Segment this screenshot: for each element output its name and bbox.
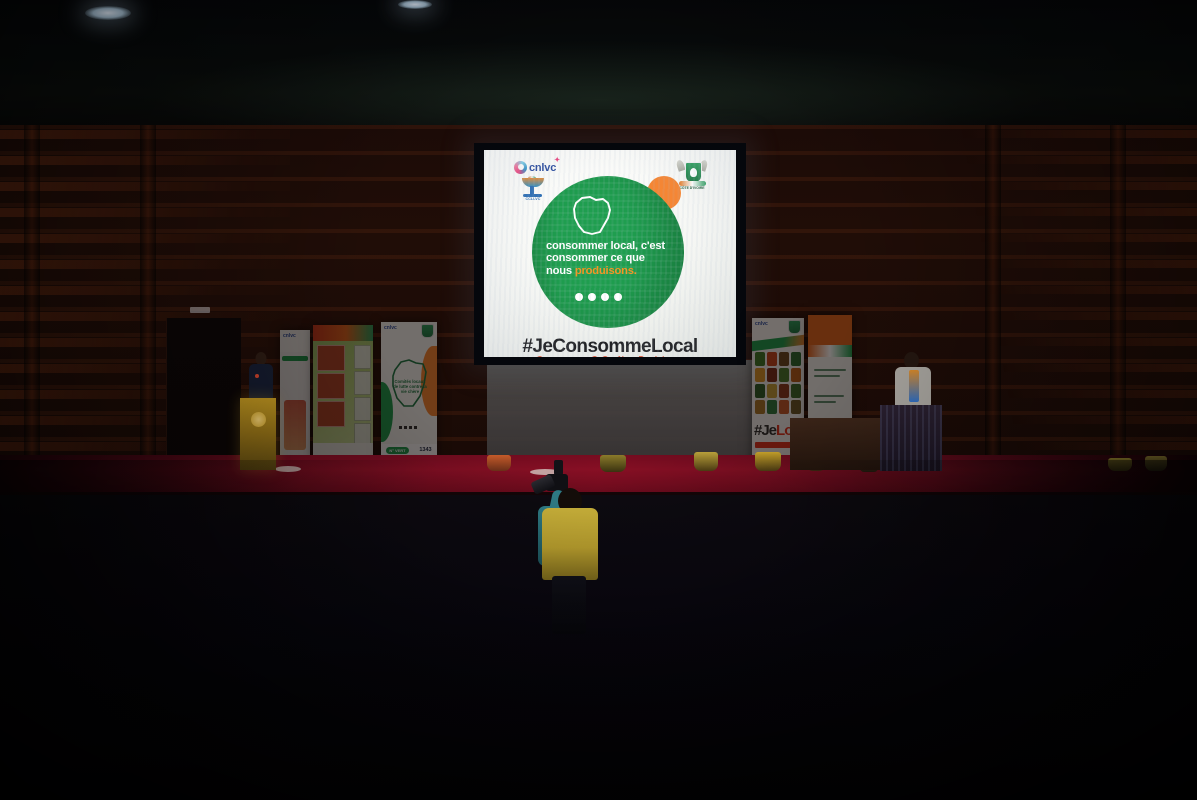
speaker-left-badge — [255, 374, 259, 378]
produce-plate — [275, 466, 301, 472]
produce-basket — [755, 452, 781, 471]
wall-pillar — [24, 125, 40, 480]
wall-pillar — [1110, 125, 1126, 480]
screen-vignette — [484, 150, 736, 357]
exit-sign-icon — [190, 307, 210, 313]
side-door — [166, 318, 241, 468]
podium-right-drape — [880, 405, 942, 471]
photographer-jacket — [542, 508, 598, 580]
banner-orange-header — [808, 315, 852, 435]
projection-screen: cnlvc ✦ CCLLVC CÔTE D'IVOIRE — [484, 150, 736, 357]
speaker-right-sash — [909, 370, 919, 402]
banner-comites-locaux: cnlvc Comités locaux de lutte contre la … — [381, 322, 437, 464]
wall-pillar — [985, 125, 1001, 480]
banner-cnlvc-partial: cnlvc — [280, 330, 310, 465]
ceiling-downlight-icon — [398, 0, 432, 9]
banner5-shadow — [808, 315, 852, 435]
banner3-shadow — [381, 322, 437, 464]
photographer — [540, 470, 600, 635]
stage-backdrop-panel — [487, 360, 755, 460]
speaker-right — [895, 352, 931, 410]
podium-seal-icon — [251, 412, 266, 427]
speaker-left — [249, 352, 273, 402]
produce-basket — [600, 455, 626, 472]
banner-food-grid — [313, 325, 373, 465]
produce-basket — [1145, 456, 1167, 471]
head-table-right — [790, 418, 886, 470]
podium-right — [880, 405, 942, 471]
ceiling — [0, 0, 1197, 132]
photograph-auditorium-scene: cnlvc ✦ CCLLVC CÔTE D'IVOIRE — [0, 0, 1197, 800]
banner2-shadow — [313, 325, 373, 465]
banner1-shadow — [280, 330, 310, 465]
produce-basket — [487, 455, 511, 471]
ceiling-downlight-icon — [85, 6, 131, 20]
produce-basket — [694, 452, 718, 471]
produce-basket — [1108, 458, 1132, 471]
podium-left — [240, 398, 276, 470]
wall-pillar — [140, 125, 156, 480]
photographer-legs — [552, 576, 586, 634]
camera-flash-icon — [554, 460, 563, 475]
